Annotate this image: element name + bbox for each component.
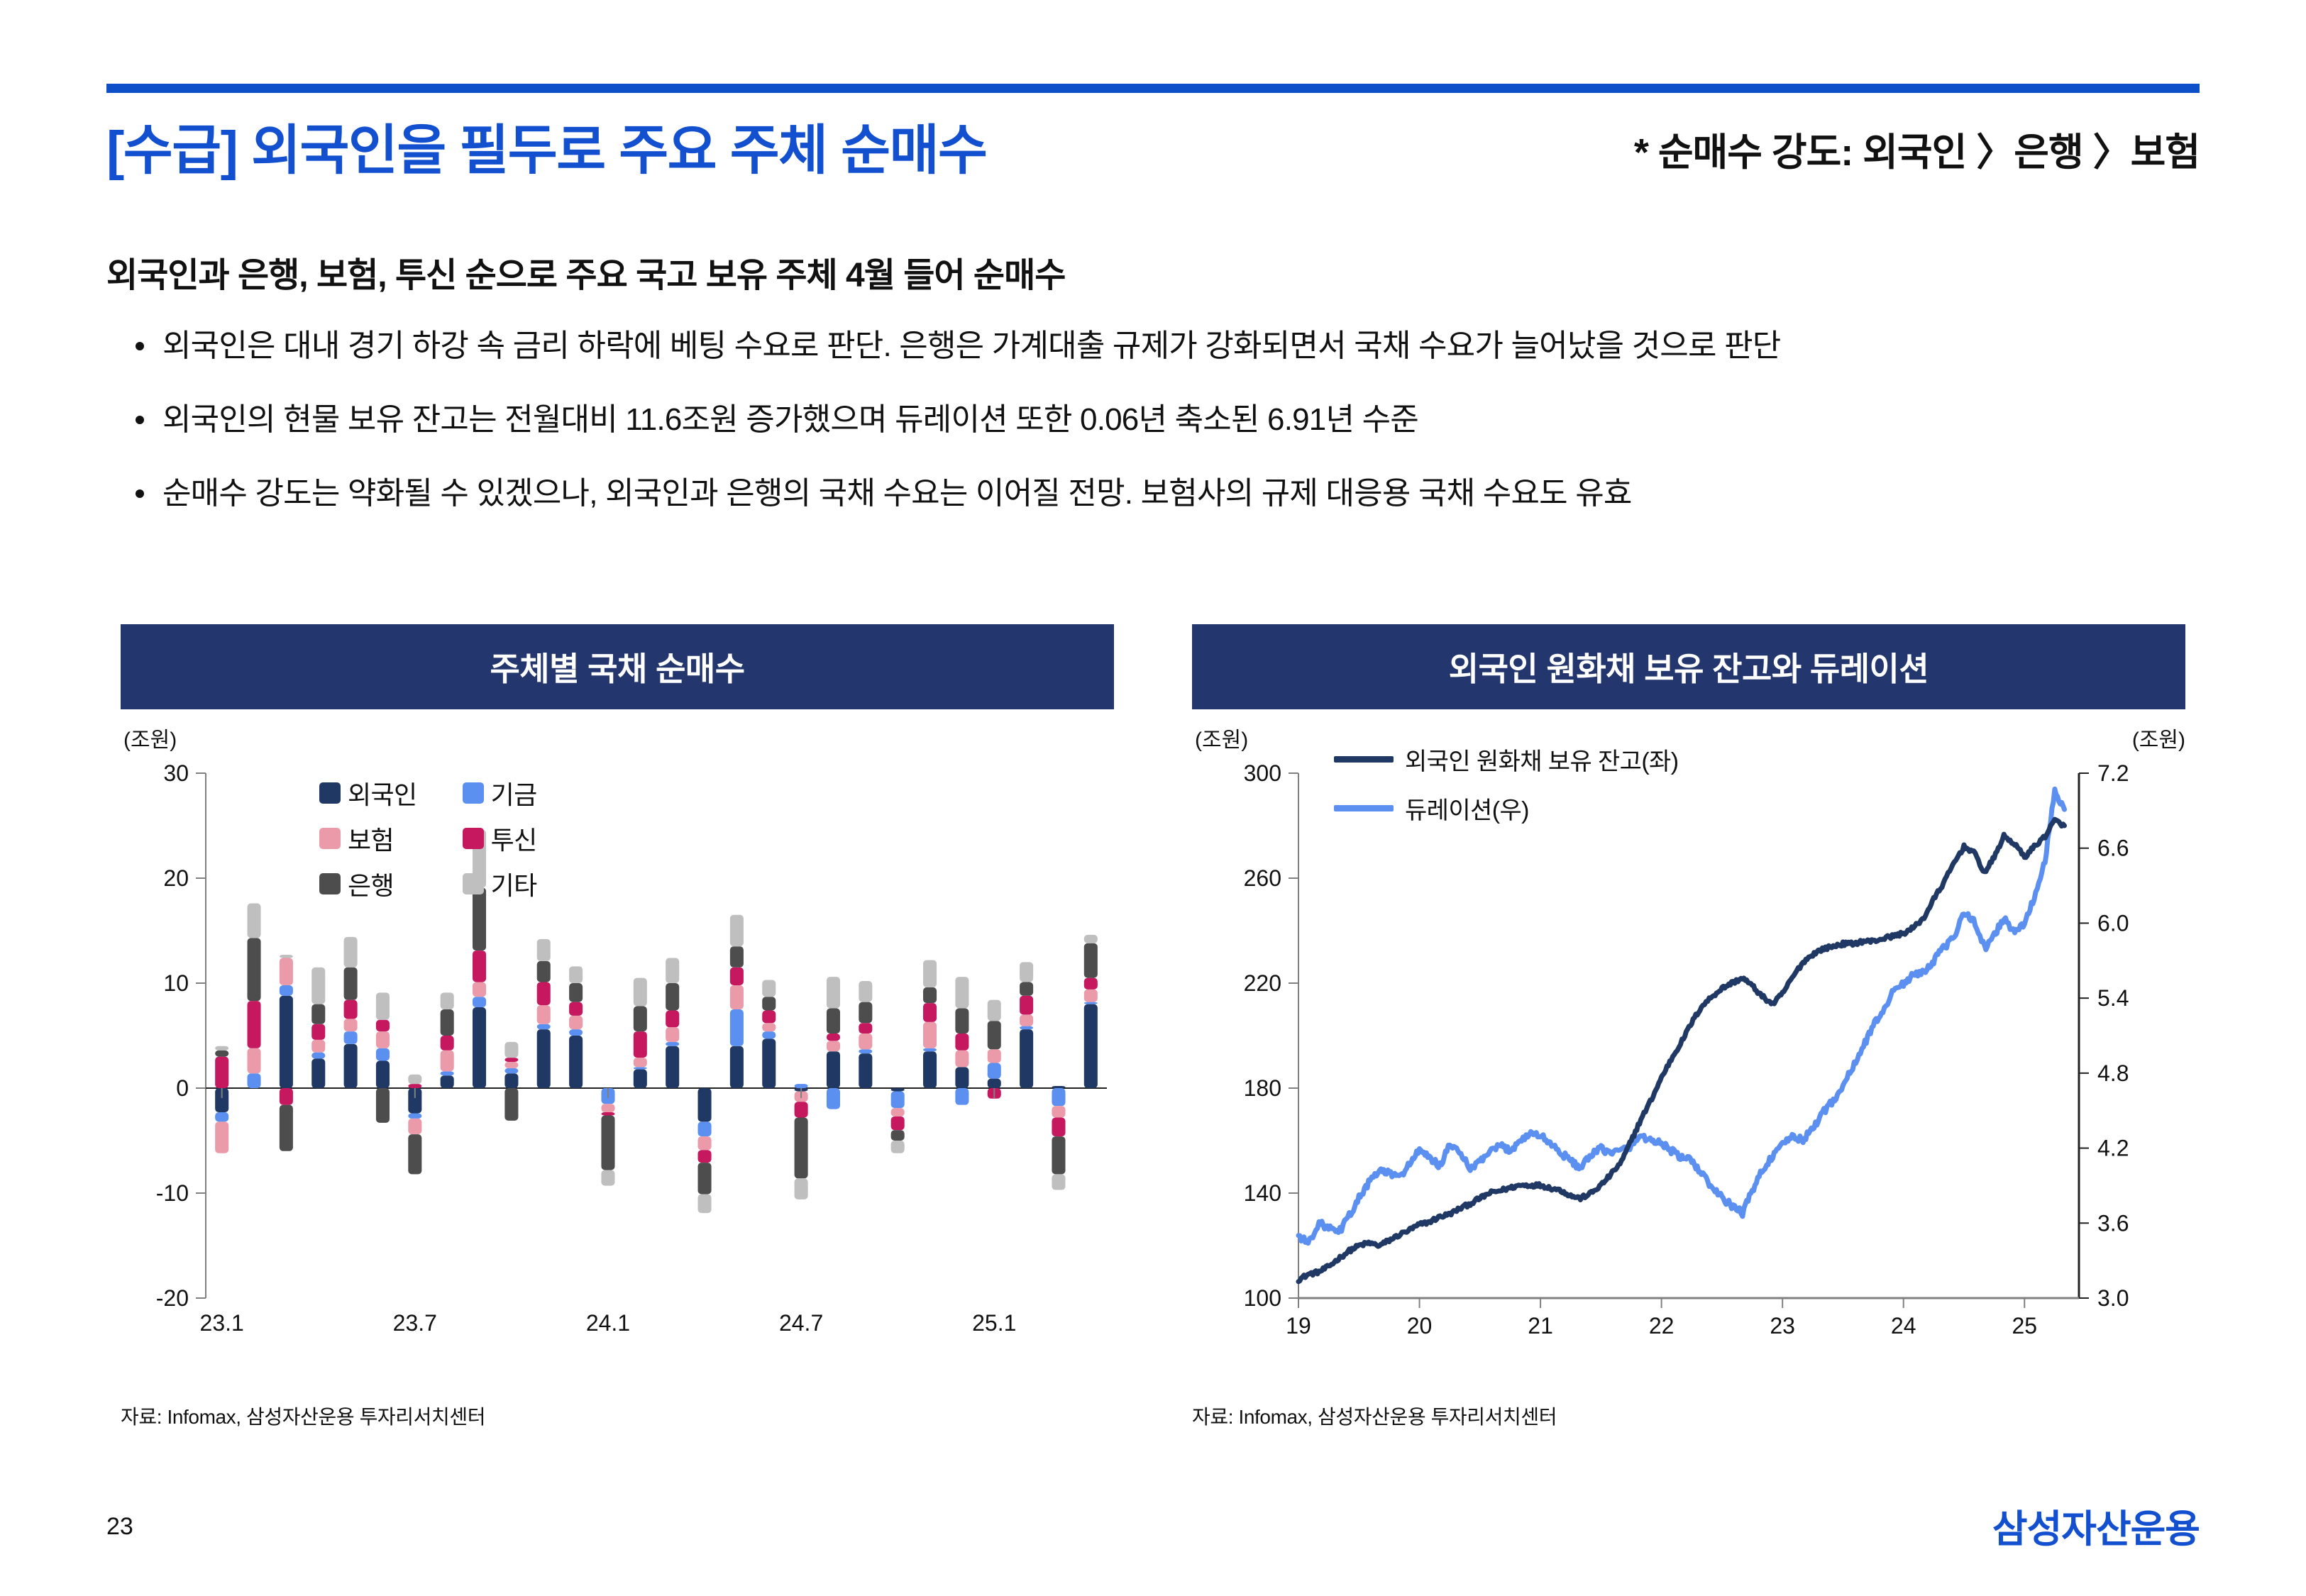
- panel-right-body: (조원) (조원) 3002602201801401007.26.66.05.4…: [1192, 709, 2185, 1426]
- svg-text:6.0: 6.0: [2097, 910, 2129, 936]
- svg-text:25: 25: [2012, 1313, 2037, 1339]
- svg-text:20: 20: [163, 865, 189, 891]
- legend-item-duration: 듀레이션(우): [1334, 791, 1678, 826]
- title-note: * 순매수 강도: 외국인 〉은행 〉보험: [1634, 127, 2200, 178]
- bullet-item: 외국인은 대내 경기 하강 속 금리 하락에 베팅 수요로 판단. 은행은 가계…: [131, 326, 2224, 366]
- svg-text:7.2: 7.2: [2097, 760, 2129, 786]
- right-chart-source: 자료: Infomax, 삼성자산운용 투자리서치센터: [1192, 1402, 1557, 1430]
- legend-line-balance: [1334, 756, 1394, 763]
- bullet-dot-icon: [136, 342, 144, 350]
- legend-item-bank: 은행: [319, 865, 417, 902]
- svg-text:0: 0: [176, 1075, 189, 1101]
- bullet-item: 외국인의 현물 보유 잔고는 전월대비 11.6조원 증가했으며 듀레이션 또한…: [131, 400, 2224, 440]
- legend-item-trust: 투신: [463, 820, 537, 857]
- svg-text:140: 140: [1244, 1180, 1281, 1206]
- svg-text:180: 180: [1244, 1075, 1281, 1101]
- bullet-item: 순매수 강도는 약화될 수 있겠으나, 외국인과 은행의 국채 수요는 이어질 …: [131, 474, 2224, 514]
- legend-item-other: 기타: [463, 865, 537, 902]
- svg-text:19: 19: [1286, 1313, 1311, 1339]
- line-chart-svg: 3002602201801401007.26.66.05.44.84.23.63…: [1192, 759, 2185, 1369]
- right-chart-unit-right: (조원): [2132, 722, 2185, 753]
- brand-logo: 삼성자산운용: [1992, 1497, 2200, 1553]
- svg-text:-10: -10: [156, 1180, 189, 1206]
- bullet-text: 외국인은 대내 경기 하강 속 금리 하락에 베팅 수요로 판단. 은행은 가계…: [162, 328, 1780, 363]
- right-chart-unit-left: (조원): [1195, 722, 1248, 753]
- panel-left-title: 주체별 국채 순매수: [121, 624, 1114, 709]
- bullet-text: 외국인의 현물 보유 잔고는 전월대비 11.6조원 증가했으며 듀레이션 또한…: [162, 402, 1418, 437]
- bullet-dot-icon: [136, 416, 144, 424]
- bar-chart-svg: 3020100-10-2023.123.724.124.725.1: [121, 759, 1114, 1369]
- svg-text:220: 220: [1244, 970, 1281, 996]
- legend-label-fund: 기금: [491, 775, 537, 811]
- panel-bar-chart: 주체별 국채 순매수 (조원) 3020100-10-2023.123.724.…: [121, 624, 1114, 1426]
- lead-sentence: 외국인과 은행, 보험, 투신 순으로 주요 국고 보유 주체 4월 들어 순매…: [106, 247, 1065, 297]
- panel-left-body: (조원) 3020100-10-2023.123.724.124.725.1 외…: [121, 709, 1114, 1426]
- slide: [수급] 외국인을 필두로 주요 주체 순매수 * 순매수 강도: 외국인 〉은…: [0, 0, 2306, 1596]
- bullet-list: 외국인은 대내 경기 하강 속 금리 하락에 베팅 수요로 판단. 은행은 가계…: [131, 326, 2224, 548]
- svg-text:100: 100: [1244, 1285, 1281, 1311]
- svg-text:20: 20: [1407, 1313, 1433, 1339]
- svg-text:6.6: 6.6: [2097, 836, 2129, 861]
- svg-text:300: 300: [1244, 760, 1281, 786]
- legend-label-duration: 듀레이션(우): [1405, 791, 1529, 826]
- legend-swatch-fund: [463, 782, 484, 804]
- left-chart-source: 자료: Infomax, 삼성자산운용 투자리서치센터: [121, 1402, 485, 1430]
- legend-item-fund: 기금: [463, 775, 537, 811]
- svg-text:30: 30: [163, 760, 189, 786]
- svg-text:-20: -20: [156, 1285, 189, 1311]
- page-number: 23: [106, 1513, 133, 1541]
- svg-text:24.7: 24.7: [779, 1310, 823, 1336]
- svg-text:25.1: 25.1: [972, 1310, 1016, 1336]
- svg-text:4.2: 4.2: [2097, 1136, 2129, 1161]
- bullet-dot-icon: [136, 489, 144, 498]
- page-title: [수급] 외국인을 필두로 주요 주체 순매수: [106, 117, 986, 185]
- left-chart-unit-left: (조원): [123, 722, 177, 753]
- svg-text:3.0: 3.0: [2097, 1285, 2129, 1311]
- legend-swatch-other: [463, 873, 484, 894]
- legend-item-foreigner: 외국인: [319, 775, 417, 811]
- svg-text:10: 10: [163, 970, 189, 996]
- panel-right-title: 외국인 원화채 보유 잔고와 듀레이션: [1192, 624, 2185, 709]
- svg-text:24: 24: [1891, 1313, 1916, 1339]
- legend-label-bank: 은행: [348, 865, 394, 902]
- top-accent-rule: [106, 84, 2200, 93]
- legend-label-foreigner: 외국인: [348, 775, 417, 811]
- legend-swatch-bank: [319, 873, 341, 894]
- legend-item-insurance: 보험: [319, 820, 417, 857]
- legend-swatch-insurance: [319, 828, 341, 849]
- line-chart-legend: 외국인 원화채 보유 잔고(좌) 듀레이션(우): [1334, 742, 1678, 826]
- svg-text:22: 22: [1649, 1313, 1675, 1339]
- panel-line-chart: 외국인 원화채 보유 잔고와 듀레이션 (조원) (조원) 3002602201…: [1192, 624, 2185, 1426]
- legend-label-insurance: 보험: [348, 820, 394, 857]
- legend-label-trust: 투신: [491, 820, 537, 857]
- legend-swatch-foreigner: [319, 782, 341, 804]
- legend-label-other: 기타: [491, 865, 537, 902]
- title-row: [수급] 외국인을 필두로 주요 주체 순매수 * 순매수 강도: 외국인 〉은…: [106, 117, 2200, 195]
- legend-item-balance: 외국인 원화채 보유 잔고(좌): [1334, 742, 1678, 777]
- svg-text:3.6: 3.6: [2097, 1210, 2129, 1236]
- bullet-text: 순매수 강도는 약화될 수 있겠으나, 외국인과 은행의 국채 수요는 이어질 …: [162, 476, 1632, 511]
- legend-label-balance: 외국인 원화채 보유 잔고(좌): [1405, 742, 1678, 777]
- bar-chart-legend: 외국인 기금 보험 투신 은행: [319, 775, 537, 902]
- bar-chart-plot: 3020100-10-2023.123.724.124.725.1: [121, 759, 1114, 1369]
- line-chart-plot: 3002602201801401007.26.66.05.44.84.23.63…: [1192, 759, 2185, 1369]
- svg-text:21: 21: [1528, 1313, 1553, 1339]
- svg-text:5.4: 5.4: [2097, 985, 2129, 1011]
- svg-text:23.1: 23.1: [200, 1310, 244, 1336]
- legend-line-duration: [1334, 805, 1394, 811]
- legend-swatch-trust: [463, 828, 484, 849]
- svg-text:23.7: 23.7: [393, 1310, 437, 1336]
- svg-text:23: 23: [1770, 1313, 1795, 1339]
- svg-text:24.1: 24.1: [586, 1310, 630, 1336]
- svg-text:4.8: 4.8: [2097, 1060, 2129, 1086]
- svg-text:260: 260: [1244, 865, 1281, 891]
